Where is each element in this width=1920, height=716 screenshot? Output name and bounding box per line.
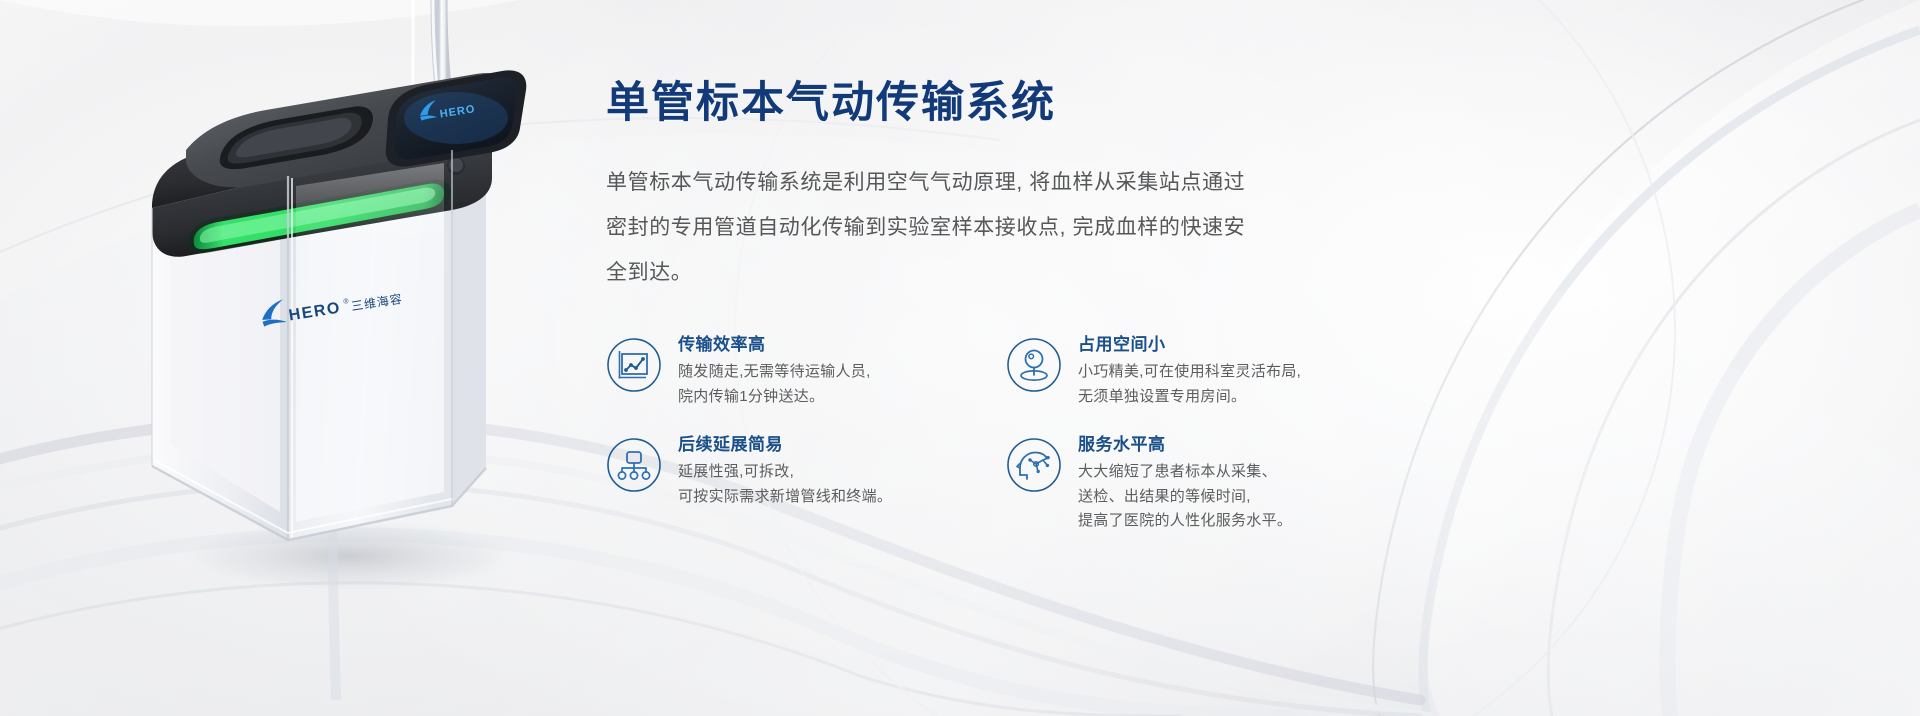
product-image: HERO: [100, 0, 620, 716]
feature-text: 占用空间小 小巧精美,可在使用科室灵活布局, 无须单独设置专用房间。: [1078, 333, 1301, 409]
feature-title: 服务水平高: [1078, 435, 1292, 455]
feature-title: 占用空间小: [1078, 335, 1301, 355]
hero-banner: HERO: [0, 0, 1920, 716]
feature-text: 传输效率高 随发随走,无需等待运输人员, 院内传输1分钟送达。: [678, 333, 871, 409]
smart-head-icon: [1006, 437, 1062, 493]
feature-description: 小巧精美,可在使用科室灵活布局, 无须单独设置专用房间。: [1078, 360, 1301, 409]
feature-text: 后续延展简易 延展性强,可拆改, 可按实际需求新增管线和终端。: [678, 433, 892, 509]
hierarchy-network-icon: [606, 437, 662, 493]
feature-item-service-level: 服务水平高 大大缩短了患者标本从采集、 送检、出结果的等候时间, 提高了医院的人…: [1006, 433, 1406, 533]
feature-title: 传输效率高: [678, 335, 871, 355]
content-column: 单管标本气动传输系统 单管标本气动传输系统是利用空气气动原理, 将血样从采集站点…: [606, 78, 1786, 533]
page-title: 单管标本气动传输系统: [606, 78, 1786, 130]
intro-paragraph: 单管标本气动传输系统是利用空气气动原理, 将血样从采集站点通过密封的专用管道自动…: [606, 160, 1266, 295]
feature-item-small-footprint: 占用空间小 小巧精美,可在使用科室灵活布局, 无须单独设置专用房间。: [1006, 333, 1406, 409]
feature-description: 随发随走,无需等待运输人员, 院内传输1分钟送达。: [678, 360, 871, 409]
feature-description: 延展性强,可拆改, 可按实际需求新增管线和终端。: [678, 460, 892, 509]
feature-description: 大大缩短了患者标本从采集、 送检、出结果的等候时间, 提高了医院的人性化服务水平…: [1078, 460, 1292, 533]
feature-item-easy-extension: 后续延展简易 延展性强,可拆改, 可按实际需求新增管线和终端。: [606, 433, 1006, 533]
chart-trend-icon: [606, 337, 662, 393]
device-screen: HERO: [386, 70, 527, 166]
feature-text: 服务水平高 大大缩短了患者标本从采集、 送检、出结果的等候时间, 提高了医院的人…: [1078, 433, 1292, 533]
feature-title: 后续延展简易: [678, 435, 892, 455]
feature-item-transmission-efficiency: 传输效率高 随发随走,无需等待运输人员, 院内传输1分钟送达。: [606, 333, 1006, 409]
feature-grid: 传输效率高 随发随走,无需等待运输人员, 院内传输1分钟送达。 占用空: [606, 333, 1426, 533]
location-pin-icon: [1006, 337, 1062, 393]
